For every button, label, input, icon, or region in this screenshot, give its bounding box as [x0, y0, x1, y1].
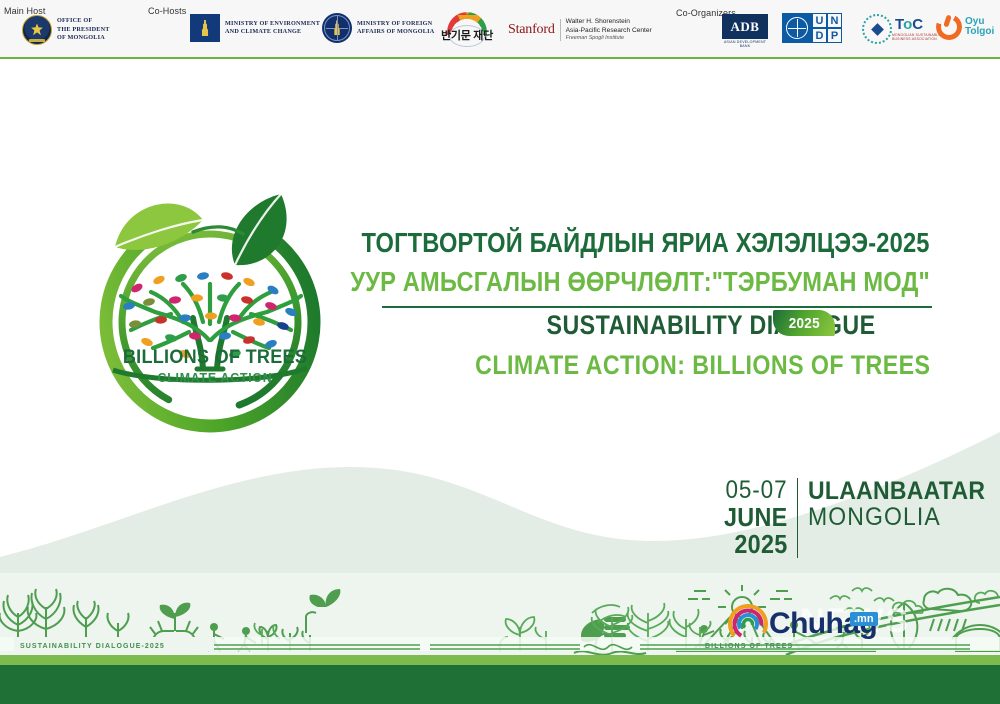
- office-of-president-text: OFFICE OF THE PRESIDENT OF MONGOLIA: [57, 17, 110, 42]
- mongolia-state-emblem-icon: [22, 15, 52, 45]
- event-days: 05-07: [723, 478, 787, 504]
- toc-subtext: MONGOLIAN SUSTAINABLE BUSINESS ASSOCIATI…: [892, 33, 941, 42]
- title-divider-rule: [382, 306, 932, 308]
- location-column: ULAANBAATAR MONGOLIA: [798, 478, 1000, 558]
- logo-graphic: [85, 172, 345, 444]
- event-city: ULAANBAATAR: [808, 478, 985, 504]
- billions-of-trees-logo: BILLIONS OF TREES CLIMATE ACTION: [85, 172, 345, 444]
- footer-bar: [0, 665, 1000, 704]
- title-english-line2: CLIMATE ACTION: BILLIONS OF TREES: [475, 350, 930, 381]
- chuhag-tld-badge: .mn: [850, 612, 878, 626]
- toc-emblem-icon: [862, 14, 892, 44]
- chuhag-spiral-icon: [728, 604, 768, 644]
- toc-wordmark: ToC: [895, 17, 941, 32]
- stanford-wordmark: Stanford: [508, 22, 555, 38]
- undp-letters: U N D P: [812, 13, 842, 43]
- shorenstein-text: Walter H. Shorenstein Asia-Pacific Resea…: [566, 18, 652, 42]
- mfa-text: MINISTRY OF FOREIGN AFFAIRS OF MONGOLIA: [357, 20, 434, 37]
- un-globe-icon: [782, 13, 812, 43]
- logo-ministry-foreign-affairs: MINISTRY OF FOREIGN AFFAIRS OF MONGOLIA: [322, 13, 444, 43]
- adb-wordmark: ADB: [722, 14, 768, 39]
- logo-oyu-tolgoi: Oyu Tolgoi: [936, 14, 994, 40]
- logo-office-of-president: OFFICE OF THE PRESIDENT OF MONGOLIA: [22, 15, 120, 45]
- oyu-tolgoi-wordmark: Oyu Tolgoi: [965, 17, 994, 38]
- mecc-emblem-icon: [190, 14, 220, 42]
- logo-ban-ki-moon-foundation: 반기문 재단: [440, 11, 494, 45]
- logo-toc: ToC MONGOLIAN SUSTAINABLE BUSINESS ASSOC…: [862, 14, 941, 44]
- accent-bar: [0, 655, 1000, 665]
- title-mongolian-line1: ТОГТВОРТОЙ БАЙДЛЫН ЯРИА ХЭЛЭЛЦЭЭ-2025: [362, 227, 930, 259]
- chuhag-watermark: Chuhag .mn: [728, 604, 877, 644]
- conference-poster: Main Host Co-Hosts Co-Organizers OFFICE …: [0, 0, 1000, 704]
- year-leaf-badge: 2025: [773, 310, 835, 336]
- band-label-left: SUSTAINABILITY DIALOGUE-2025: [20, 643, 165, 650]
- sponsor-header: Main Host Co-Hosts Co-Organizers OFFICE …: [0, 0, 1000, 59]
- oyu-tolgoi-mark-icon: [936, 14, 962, 40]
- event-month-year: JUNE 2025: [723, 504, 787, 559]
- mfa-globe-icon: [322, 13, 352, 43]
- divider: [560, 19, 561, 41]
- logo-ministry-environment: MINISTRY OF ENVIRONMENT AND CLIMATE CHAN…: [190, 14, 330, 42]
- logo-caption-sub: CLIMATE ACTION: [92, 370, 339, 385]
- title-mongolian-line2: УУР АМЬСГАЛЫН ӨӨРЧЛӨЛТ:"ТЭРБУМАН МОД": [350, 266, 930, 298]
- ban-ki-moon-foundation-icon: 반기문 재단: [440, 11, 494, 45]
- logo-adb: ADB ASIAN DEVELOPMENT BANK: [722, 14, 768, 48]
- logo-undp: U N D P: [782, 13, 842, 43]
- mecc-text: MINISTRY OF ENVIRONMENT AND CLIMATE CHAN…: [225, 20, 320, 37]
- adb-caption: ASIAN DEVELOPMENT BANK: [722, 40, 768, 48]
- logo-stanford-shorenstein: Stanford Walter H. Shorenstein Asia-Paci…: [508, 18, 662, 42]
- date-column: 05-07 JUNE 2025: [716, 478, 797, 558]
- event-country: MONGOLIA: [808, 504, 985, 530]
- event-date-location: 05-07 JUNE 2025 ULAANBAATAR MONGOLIA: [716, 478, 1000, 558]
- logo-caption-main: BILLIONS OF TREES: [92, 347, 339, 369]
- bkm-korean-text: 반기문 재단: [441, 31, 493, 42]
- band-label-right: BILLIONS OF TREES: [705, 643, 793, 650]
- co-hosts-label: Co-Hosts: [148, 6, 186, 16]
- year-badge-text: 2025: [788, 315, 819, 332]
